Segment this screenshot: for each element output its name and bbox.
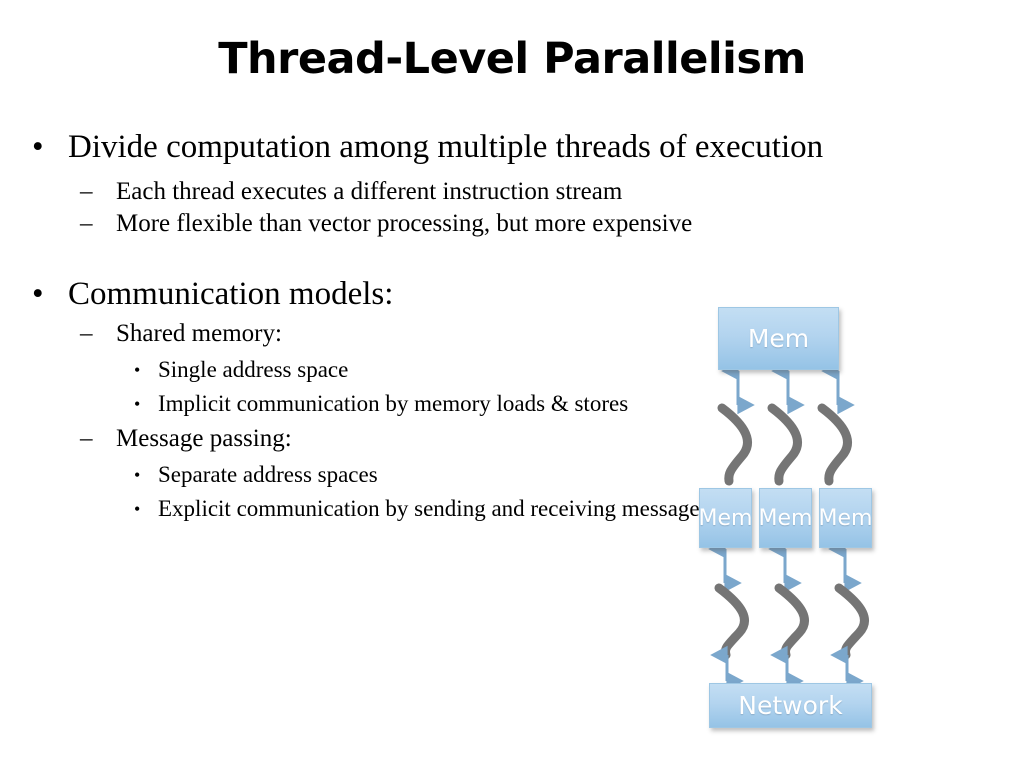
shared-memory-thread-squiggles: [722, 408, 848, 481]
thread-squiggle-icon: [822, 408, 848, 481]
thread-squiggle-icon: [722, 408, 748, 481]
message-passing-thread-squiggles: [719, 588, 865, 655]
thread-squiggle-icon: [719, 588, 745, 655]
thread-squiggle-icon: [839, 588, 865, 655]
thread-squiggle-icon: [779, 588, 805, 655]
local-memory-box-2: Mem: [759, 488, 812, 548]
shared-memory-arrows: [738, 371, 838, 405]
local-memory-box-3: Mem: [819, 488, 872, 548]
local-memory-box-1: Mem: [699, 488, 752, 548]
memory-model-diagram: Mem Mem Mem Mem Network: [0, 0, 1024, 768]
shared-memory-box: Mem: [718, 307, 839, 370]
network-arrows: [727, 655, 847, 681]
network-box: Network: [709, 683, 872, 728]
message-passing-upper-arrows: [725, 549, 845, 583]
diagram-connectors: [0, 0, 1024, 768]
thread-squiggle-icon: [772, 408, 798, 481]
